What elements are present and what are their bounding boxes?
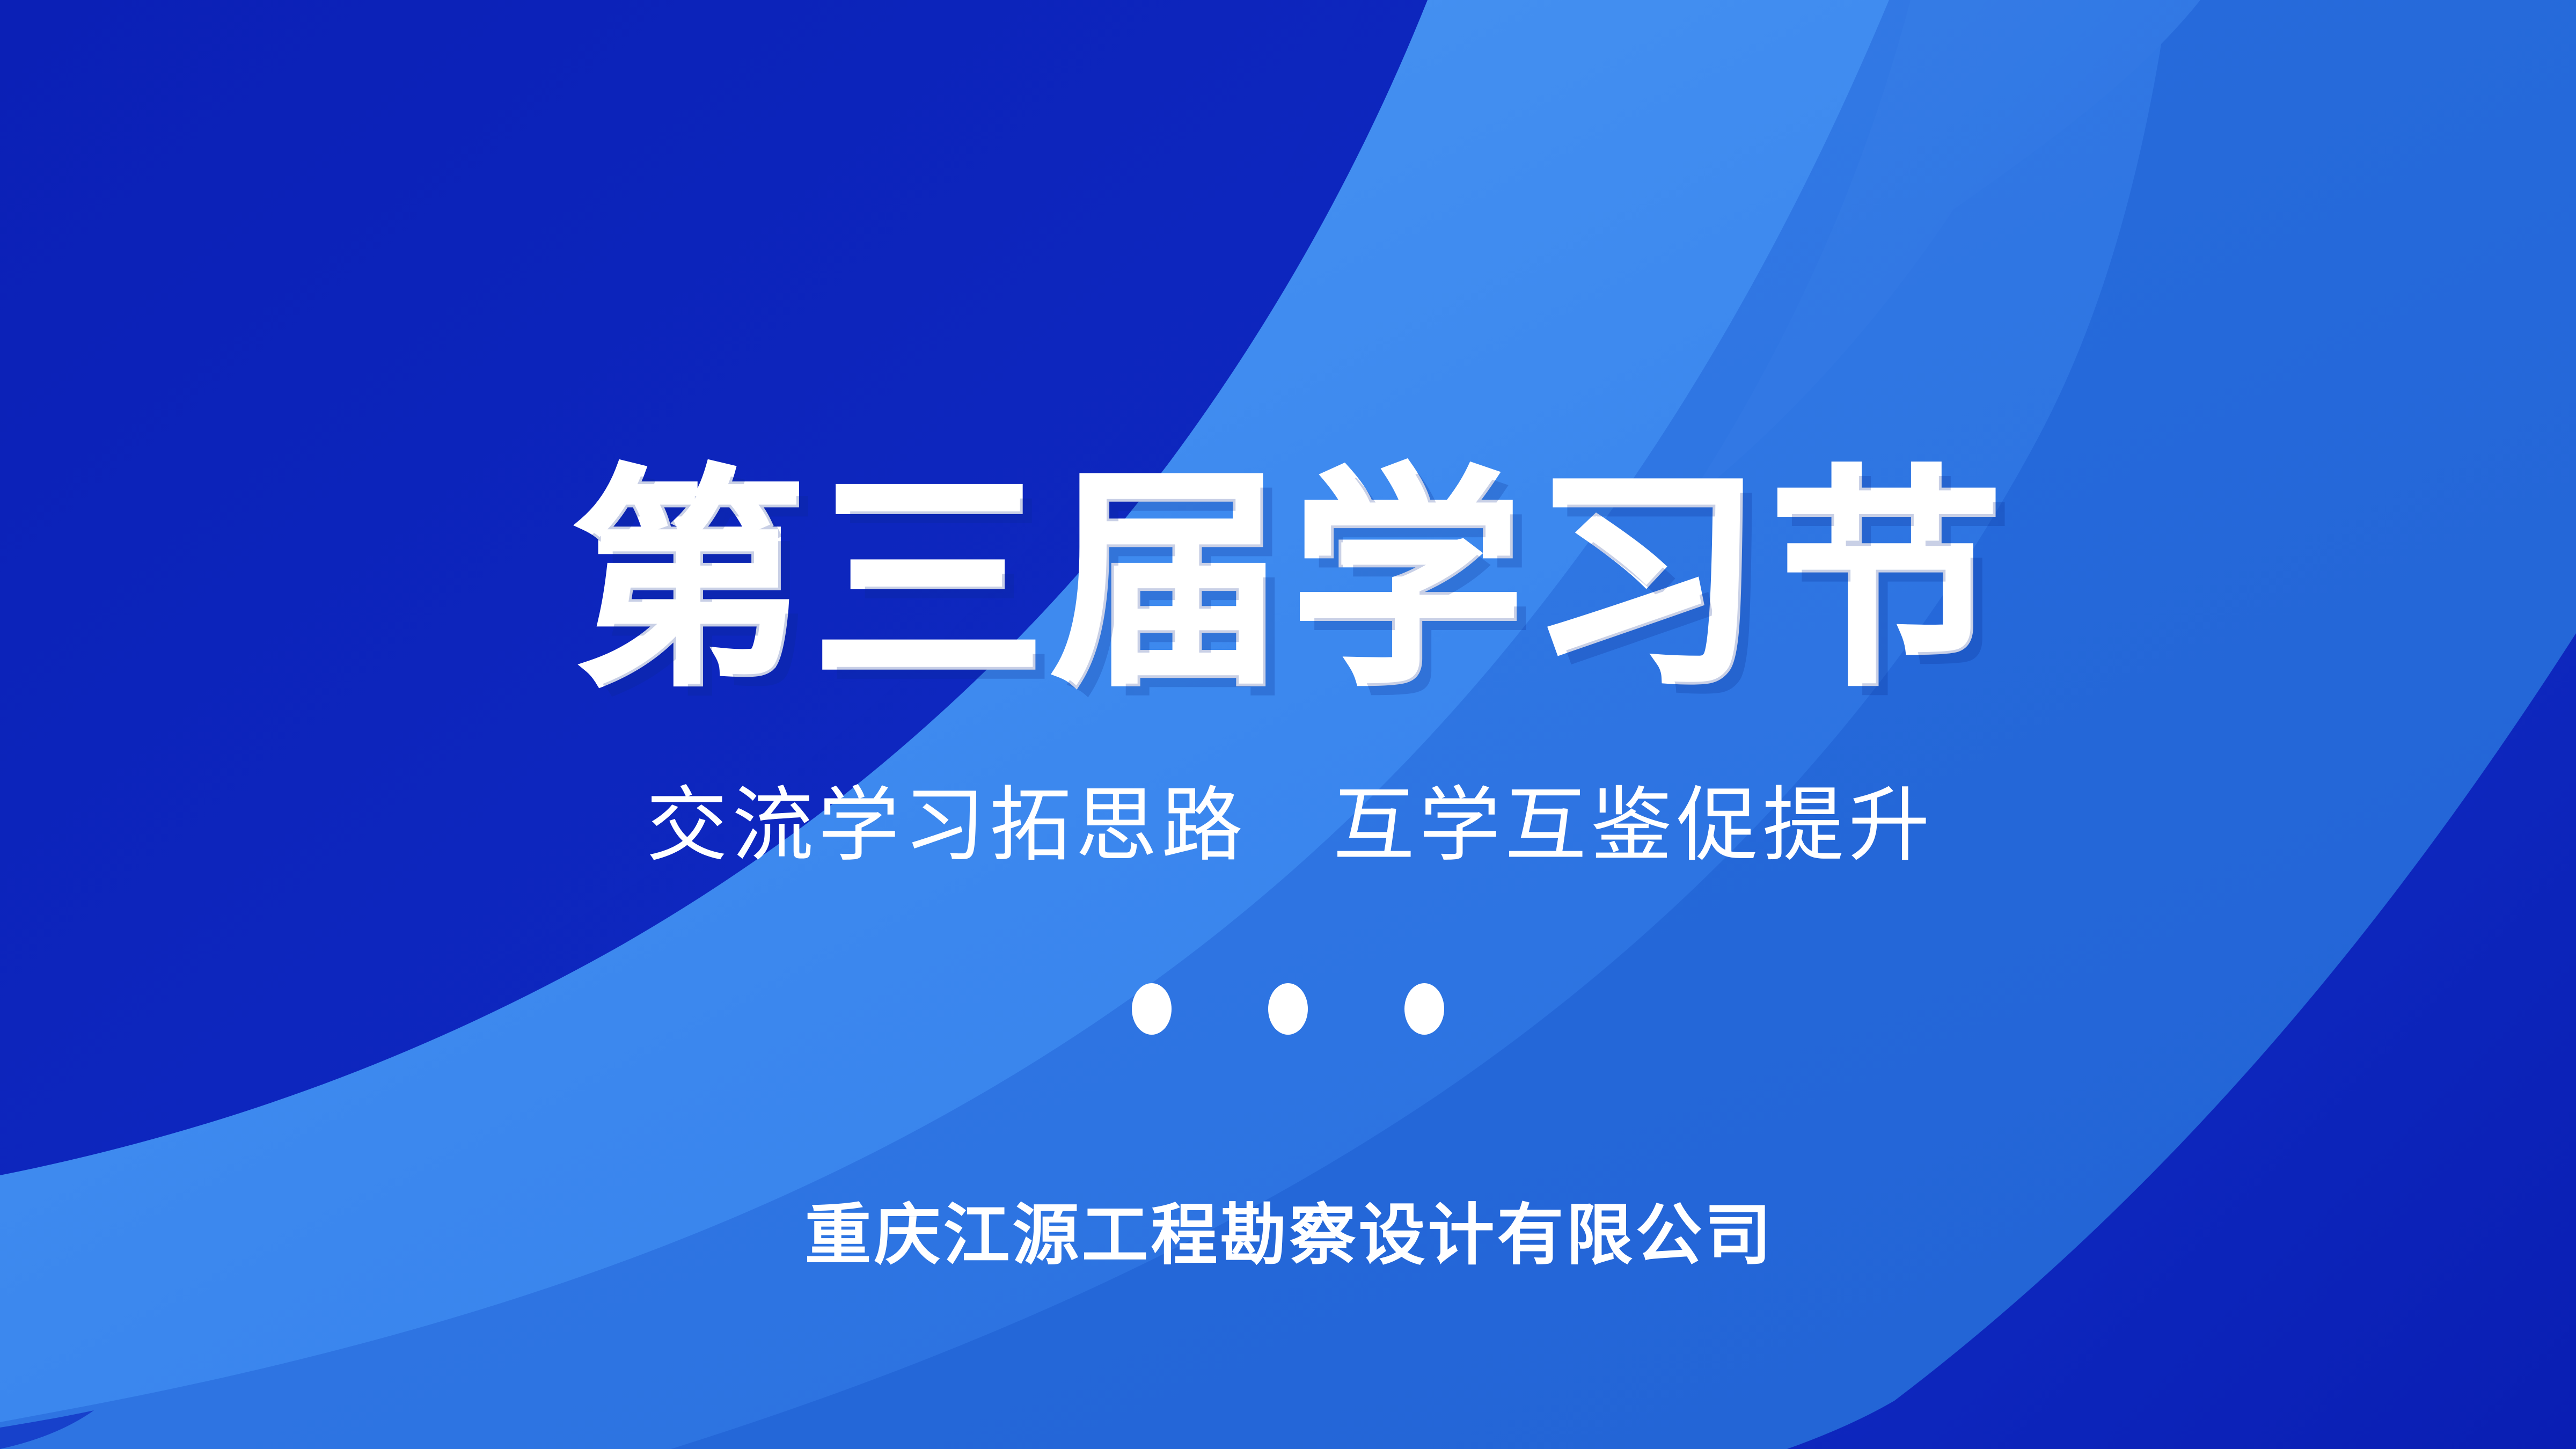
separator-dot-icon <box>1268 983 1308 1035</box>
poster-canvas: 第三届学习节 交流学习拓思路 互学互鉴促提升 重庆江源工程勘察设计有限公司 <box>0 0 2576 1449</box>
main-title: 第三届学习节 <box>0 467 2576 698</box>
subtitle-text: 交流学习拓思路 互学互鉴促提升 <box>642 785 1934 866</box>
main-title-text: 第三届学习节 <box>566 467 2010 698</box>
company-name: 重庆江源工程勘察设计有限公司 <box>0 1202 2576 1269</box>
dot-separator <box>0 983 2576 1035</box>
poster-content: 第三届学习节 交流学习拓思路 互学互鉴促提升 重庆江源工程勘察设计有限公司 <box>0 0 2576 1449</box>
subtitle: 交流学习拓思路 互学互鉴促提升 <box>0 785 2576 866</box>
separator-dot-icon <box>1132 983 1172 1035</box>
separator-dot-icon <box>1404 983 1444 1035</box>
company-name-text: 重庆江源工程勘察设计有限公司 <box>802 1202 1774 1269</box>
